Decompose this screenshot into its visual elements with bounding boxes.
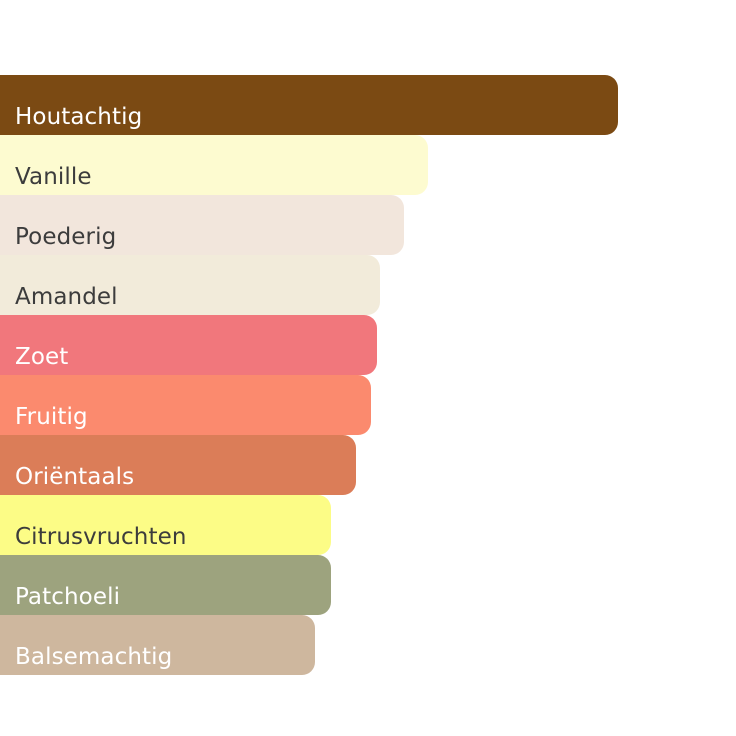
horizontal-bar-chart: HoutachtigVanillePoederigAmandelZoetFrui… (0, 0, 736, 736)
bar-row[interactable]: Citrusvruchten (0, 495, 736, 555)
bar-fill[interactable] (0, 75, 618, 135)
bar-row[interactable]: Fruitig (0, 375, 736, 435)
bar-row[interactable]: Vanille (0, 135, 736, 195)
bar-fill[interactable] (0, 555, 331, 615)
bars-container: HoutachtigVanillePoederigAmandelZoetFrui… (0, 75, 736, 675)
bar-fill[interactable] (0, 255, 380, 315)
bar-row[interactable]: Amandel (0, 255, 736, 315)
bar-fill[interactable] (0, 195, 404, 255)
bar-row[interactable]: Zoet (0, 315, 736, 375)
bar-row[interactable]: Patchoeli (0, 555, 736, 615)
bar-fill[interactable] (0, 135, 428, 195)
bar-row[interactable]: Oriëntaals (0, 435, 736, 495)
bar-row[interactable]: Balsemachtig (0, 615, 736, 675)
bar-fill[interactable] (0, 435, 356, 495)
bar-row[interactable]: Houtachtig (0, 75, 736, 135)
bar-fill[interactable] (0, 375, 371, 435)
bar-fill[interactable] (0, 495, 331, 555)
bar-fill[interactable] (0, 315, 377, 375)
bar-fill[interactable] (0, 615, 315, 675)
bar-row[interactable]: Poederig (0, 195, 736, 255)
